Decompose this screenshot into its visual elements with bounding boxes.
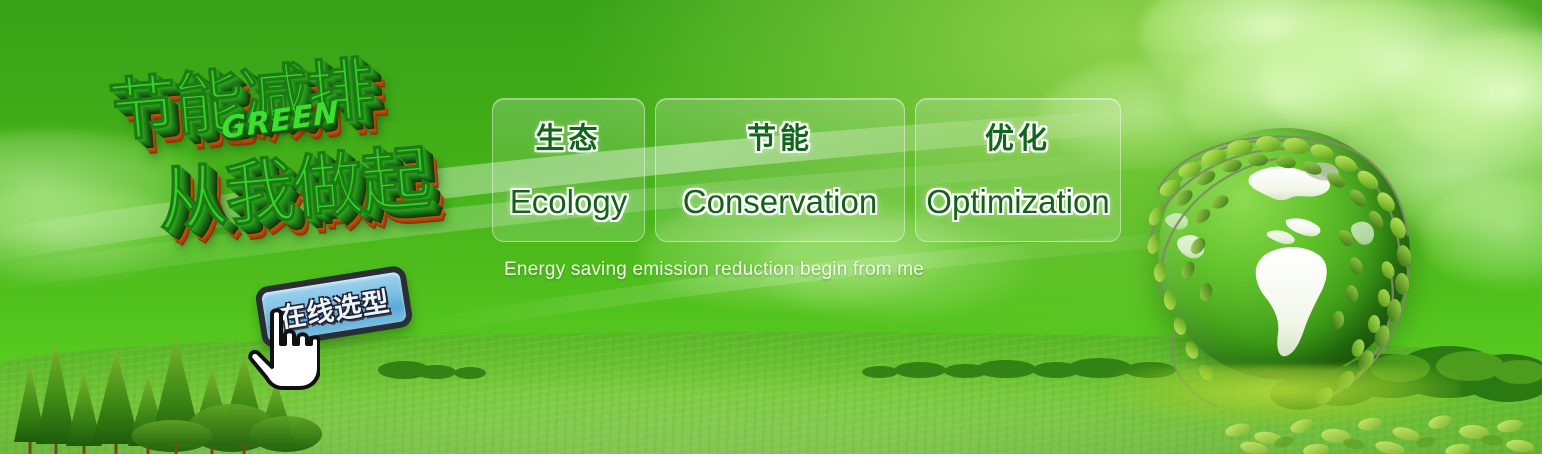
- leafy-earth-globe: [1140, 120, 1430, 420]
- feature-card-conservation-cn: 节能: [747, 115, 813, 157]
- cloud-icon: [1420, 180, 1542, 290]
- feature-card-ecology[interactable]: 生态 Ecology: [492, 98, 645, 242]
- feature-card-optimization-en: Optimization: [926, 183, 1109, 221]
- feature-card-conservation-en: Conservation: [683, 183, 877, 221]
- feature-card-optimization[interactable]: 优化 Optimization: [915, 98, 1121, 242]
- eco-promo-banner: 节能减排 从我做起 GREEN 生态 Ecology 节能 Conservati…: [0, 0, 1542, 454]
- headline-line-2-text: 从我做起: [154, 137, 432, 242]
- feature-card-ecology-en: Ecology: [510, 183, 627, 221]
- banner-subtitle: Energy saving emission reduction begin f…: [504, 259, 924, 281]
- globe-ground-glow: [1110, 366, 1460, 426]
- feature-card-conservation[interactable]: 节能 Conservation: [655, 98, 905, 242]
- cloud-icon: [1140, 0, 1440, 110]
- headline-3d: 节能减排 从我做起 GREEN: [87, 23, 506, 287]
- feature-card-group: 生态 Ecology 节能 Conservation 优化 Optimizati…: [492, 98, 1121, 242]
- globe-sphere: [1158, 128, 1410, 380]
- feature-card-ecology-cn: 生态: [535, 115, 601, 157]
- globe-continents-icon: [1158, 128, 1410, 380]
- feature-card-optimization-cn: 优化: [985, 115, 1051, 157]
- online-selection-button-label: 在线选型: [276, 279, 393, 335]
